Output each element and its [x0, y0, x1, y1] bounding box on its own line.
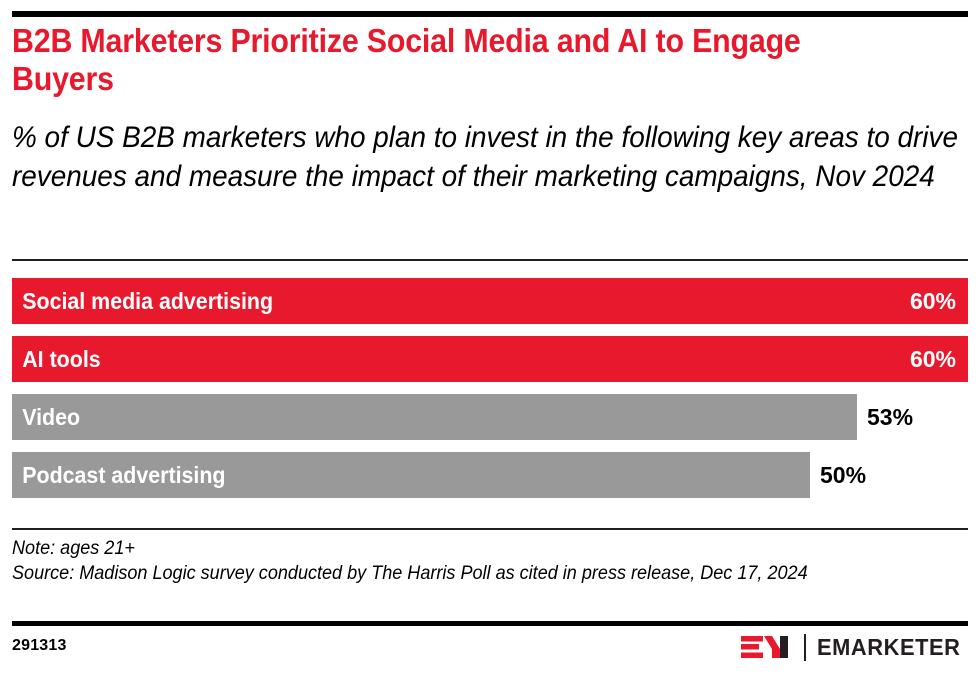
- bar-video: Video: [12, 394, 857, 440]
- bar-row: AI tools 60%: [12, 336, 968, 382]
- bar-value: 50%: [820, 452, 866, 498]
- divider-above-bars: [12, 259, 968, 261]
- source-text: Source: Madison Logic survey conducted b…: [12, 561, 938, 586]
- brand-name: EMARKETER: [817, 634, 961, 661]
- bar-label: Social media advertising: [12, 278, 273, 324]
- bar-label: AI tools: [12, 336, 101, 382]
- chart-title: B2B Marketers Prioritize Social Media an…: [12, 22, 868, 98]
- bar-chart-plot: Social media advertising 60% AI tools 60…: [12, 278, 968, 498]
- chart-id: 291313: [12, 637, 67, 655]
- emarketer-logo: EMARKETER: [741, 632, 968, 662]
- bar-value: 53%: [867, 394, 913, 440]
- em-monogram-icon: [741, 634, 795, 660]
- logo-divider: [804, 634, 806, 661]
- chart-card: B2B Marketers Prioritize Social Media an…: [0, 0, 980, 679]
- bar-row: Podcast advertising 50%: [12, 452, 968, 498]
- note-text: Note: ages 21+: [12, 536, 938, 561]
- bar-value: 60%: [910, 278, 956, 324]
- bar-value: 60%: [910, 336, 956, 382]
- bar-label: Podcast advertising: [12, 452, 226, 498]
- chart-inner: B2B Marketers Prioritize Social Media an…: [12, 0, 968, 679]
- chart-notes: Note: ages 21+ Source: Madison Logic sur…: [12, 536, 938, 586]
- bar-row: Video 53%: [12, 394, 968, 440]
- top-rule: [12, 11, 968, 17]
- bar-label: Video: [12, 394, 80, 440]
- bar-ai-tools: AI tools: [12, 336, 968, 382]
- bottom-rule: [12, 621, 968, 626]
- divider-above-notes: [12, 528, 968, 530]
- bar-podcast-advertising: Podcast advertising: [12, 452, 810, 498]
- bar-social-media-advertising: Social media advertising: [12, 278, 968, 324]
- bar-row: Social media advertising 60%: [12, 278, 968, 324]
- chart-subtitle: % of US B2B marketers who plan to invest…: [12, 118, 970, 196]
